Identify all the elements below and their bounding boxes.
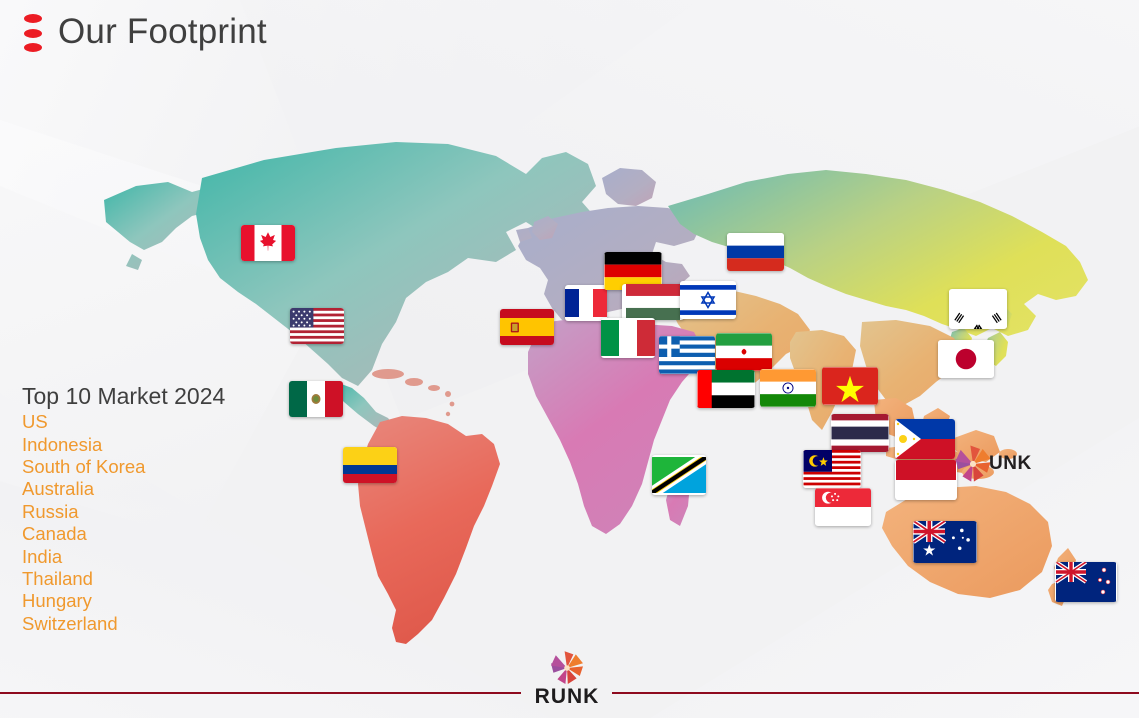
flag-philippines bbox=[895, 419, 955, 459]
flag-india bbox=[760, 369, 816, 407]
flag-malaysia bbox=[803, 450, 861, 488]
flag-thailand bbox=[831, 414, 889, 452]
footer-logo: RUNK bbox=[521, 648, 613, 712]
flag-greece bbox=[659, 336, 715, 374]
flag-indonesia bbox=[895, 460, 957, 500]
footer-rule-right bbox=[612, 692, 1139, 694]
runk-pinwheel-icon bbox=[547, 648, 587, 688]
footer-rule-left bbox=[0, 692, 521, 694]
flag-russia bbox=[727, 233, 784, 271]
footer-brand-text: RUNK bbox=[535, 685, 600, 709]
flag-vietnam bbox=[822, 367, 878, 405]
flag-mexico bbox=[289, 381, 343, 417]
flag-tanzania bbox=[652, 455, 706, 495]
flag-france bbox=[565, 285, 607, 321]
region-scandinavia bbox=[602, 168, 656, 206]
region-caribbean bbox=[372, 369, 454, 416]
flag-south-korea bbox=[949, 289, 1007, 329]
world-map: UNK bbox=[96, 82, 1121, 652]
flag-colombia bbox=[343, 447, 397, 483]
page-title: Our Footprint bbox=[58, 14, 267, 49]
flag-italy bbox=[601, 318, 655, 358]
flag-new-zealand bbox=[1055, 562, 1117, 602]
runk-watermark-text: UNK bbox=[989, 453, 1032, 475]
flag-hungary bbox=[622, 284, 684, 320]
flag-australia bbox=[913, 521, 977, 563]
red-dots-icon bbox=[24, 8, 42, 54]
flag-united-arab-emirates bbox=[697, 370, 755, 408]
flag-singapore bbox=[815, 488, 871, 526]
flag-japan bbox=[938, 340, 994, 378]
flag-israel bbox=[680, 281, 736, 319]
flag-united-states bbox=[290, 308, 344, 344]
slide-canvas: Our Footprint Top 10 Market 2024 US Indo… bbox=[0, 0, 1139, 718]
slide-header: Our Footprint bbox=[24, 8, 267, 54]
flag-iran bbox=[716, 333, 772, 371]
runk-watermark-logo: UNK bbox=[951, 440, 1037, 488]
flag-canada bbox=[241, 225, 295, 261]
flag-spain bbox=[500, 309, 554, 345]
